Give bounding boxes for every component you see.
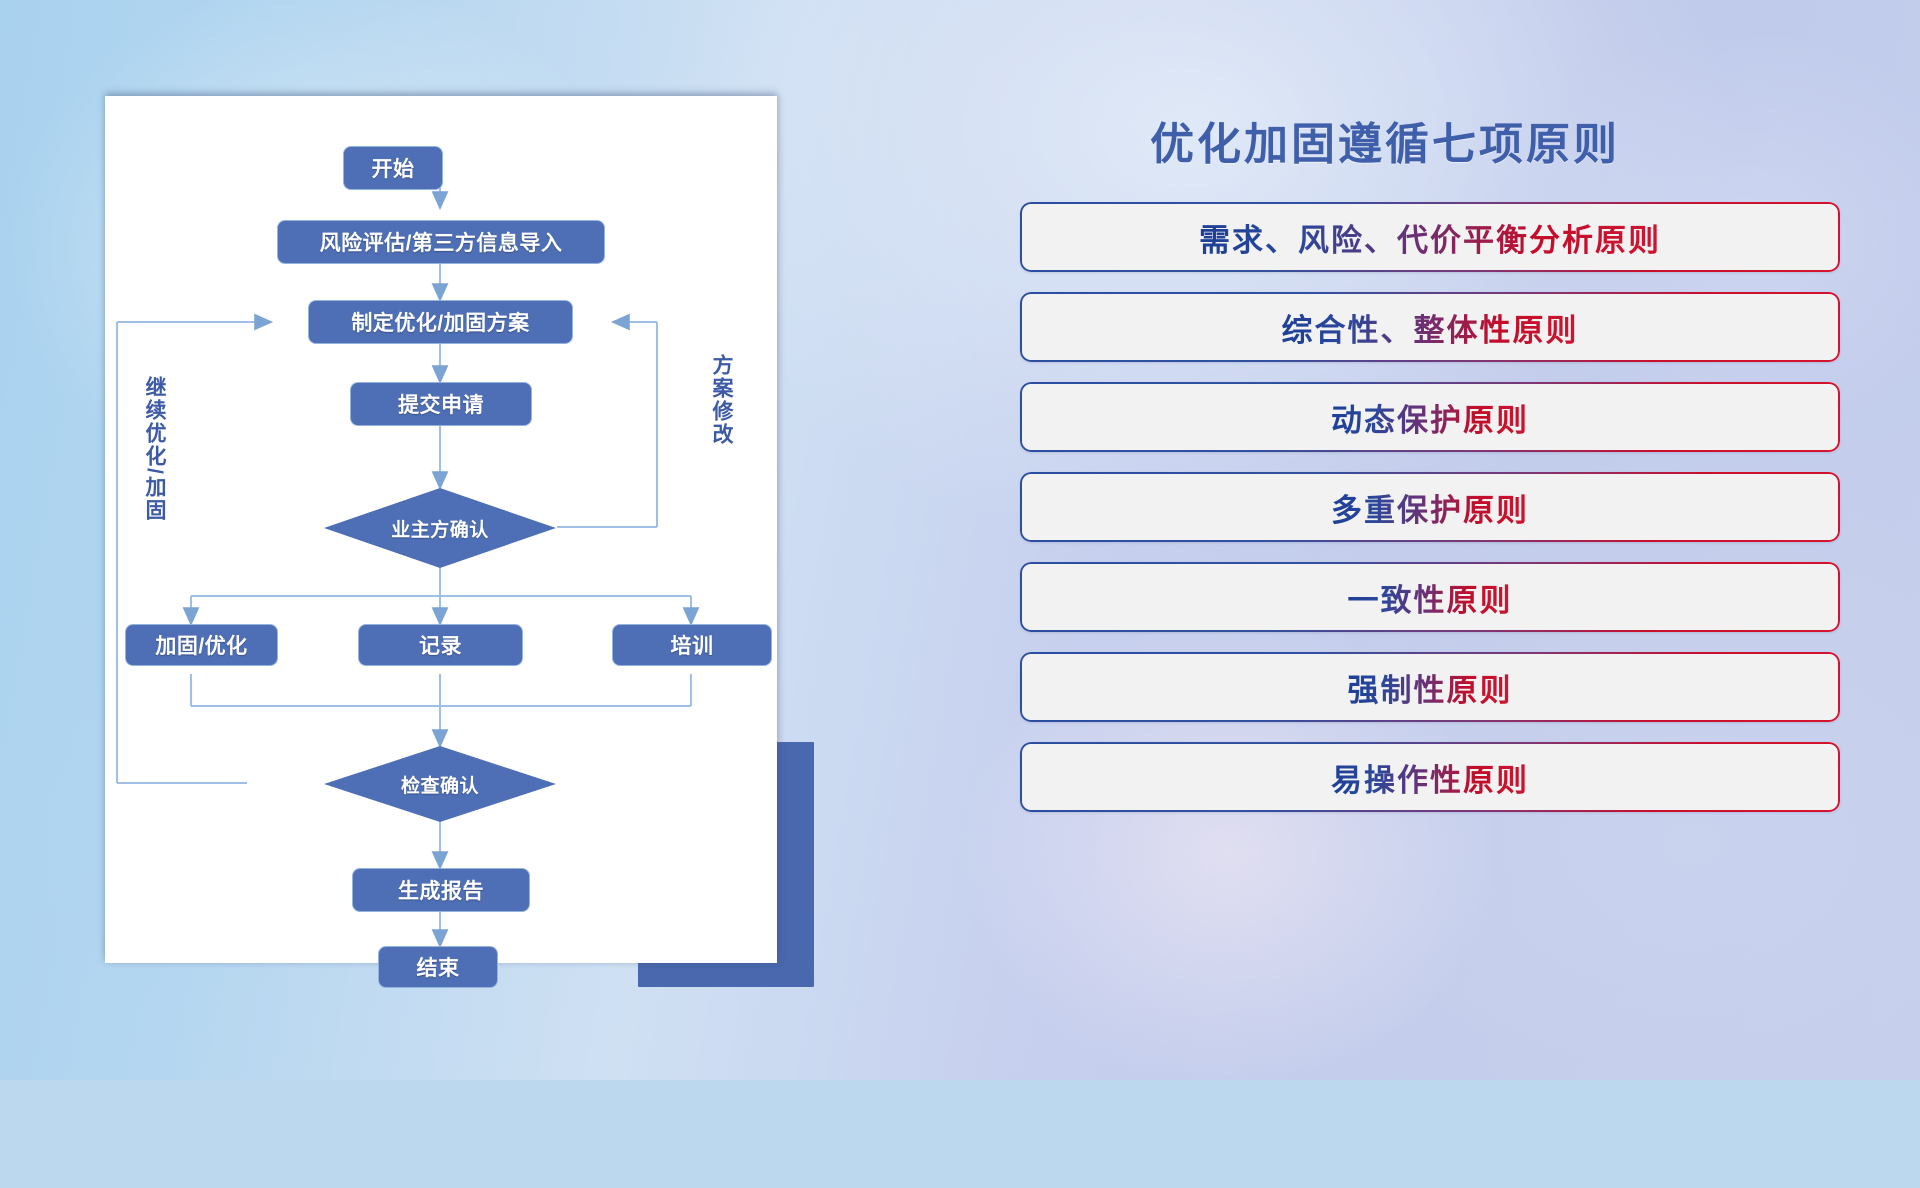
flow-edge-label-continue-optimize: 继续优化/加固: [143, 376, 165, 522]
flow-node-record[interactable]: 记录: [358, 624, 523, 666]
principle-label: 动态保护原则: [1331, 395, 1529, 440]
principle-label: 强制性原则: [1348, 665, 1513, 710]
principle-label: 多重保护原则: [1331, 485, 1529, 530]
principle-card[interactable]: 易操作性原则: [1020, 742, 1840, 812]
principle-card[interactable]: 强制性原则: [1020, 652, 1840, 722]
flow-node-start[interactable]: 开始: [343, 146, 443, 190]
flowchart-card: 开始 风险评估/第三方信息导入 制定优化/加固方案 提交申请 业主方确认 加固/…: [105, 96, 777, 963]
flow-edge-label-plan-revision: 方案修改: [710, 354, 732, 446]
panel-title: 优化加固遵循七项原则: [1150, 108, 1620, 172]
flow-node-reinforce-optimize[interactable]: 加固/优化: [125, 624, 278, 666]
flow-node-submit-application[interactable]: 提交申请: [350, 382, 532, 426]
principles-panel: 优化加固遵循七项原则 需求、风险、代价平衡分析原则 综合性、整体性原则 动态保护…: [1020, 92, 1840, 1012]
flow-node-plan[interactable]: 制定优化/加固方案: [308, 300, 573, 344]
principle-card[interactable]: 动态保护原则: [1020, 382, 1840, 452]
principles-list: 需求、风险、代价平衡分析原则 综合性、整体性原则 动态保护原则 多重保护原则 一…: [1020, 202, 1840, 832]
principle-card[interactable]: 需求、风险、代价平衡分析原则: [1020, 202, 1840, 272]
flow-node-training[interactable]: 培训: [612, 624, 772, 666]
principle-label: 综合性、整体性原则: [1282, 305, 1579, 350]
principle-label: 易操作性原则: [1331, 755, 1529, 800]
principle-label: 一致性原则: [1348, 575, 1513, 620]
principle-label: 需求、风险、代价平衡分析原则: [1199, 215, 1661, 260]
principle-card[interactable]: 一致性原则: [1020, 562, 1840, 632]
principle-card[interactable]: 多重保护原则: [1020, 472, 1840, 542]
flow-node-end[interactable]: 结束: [378, 946, 498, 988]
flow-node-generate-report[interactable]: 生成报告: [352, 868, 530, 912]
principle-card[interactable]: 综合性、整体性原则: [1020, 292, 1840, 362]
flow-node-risk-assessment[interactable]: 风险评估/第三方信息导入: [277, 220, 605, 264]
